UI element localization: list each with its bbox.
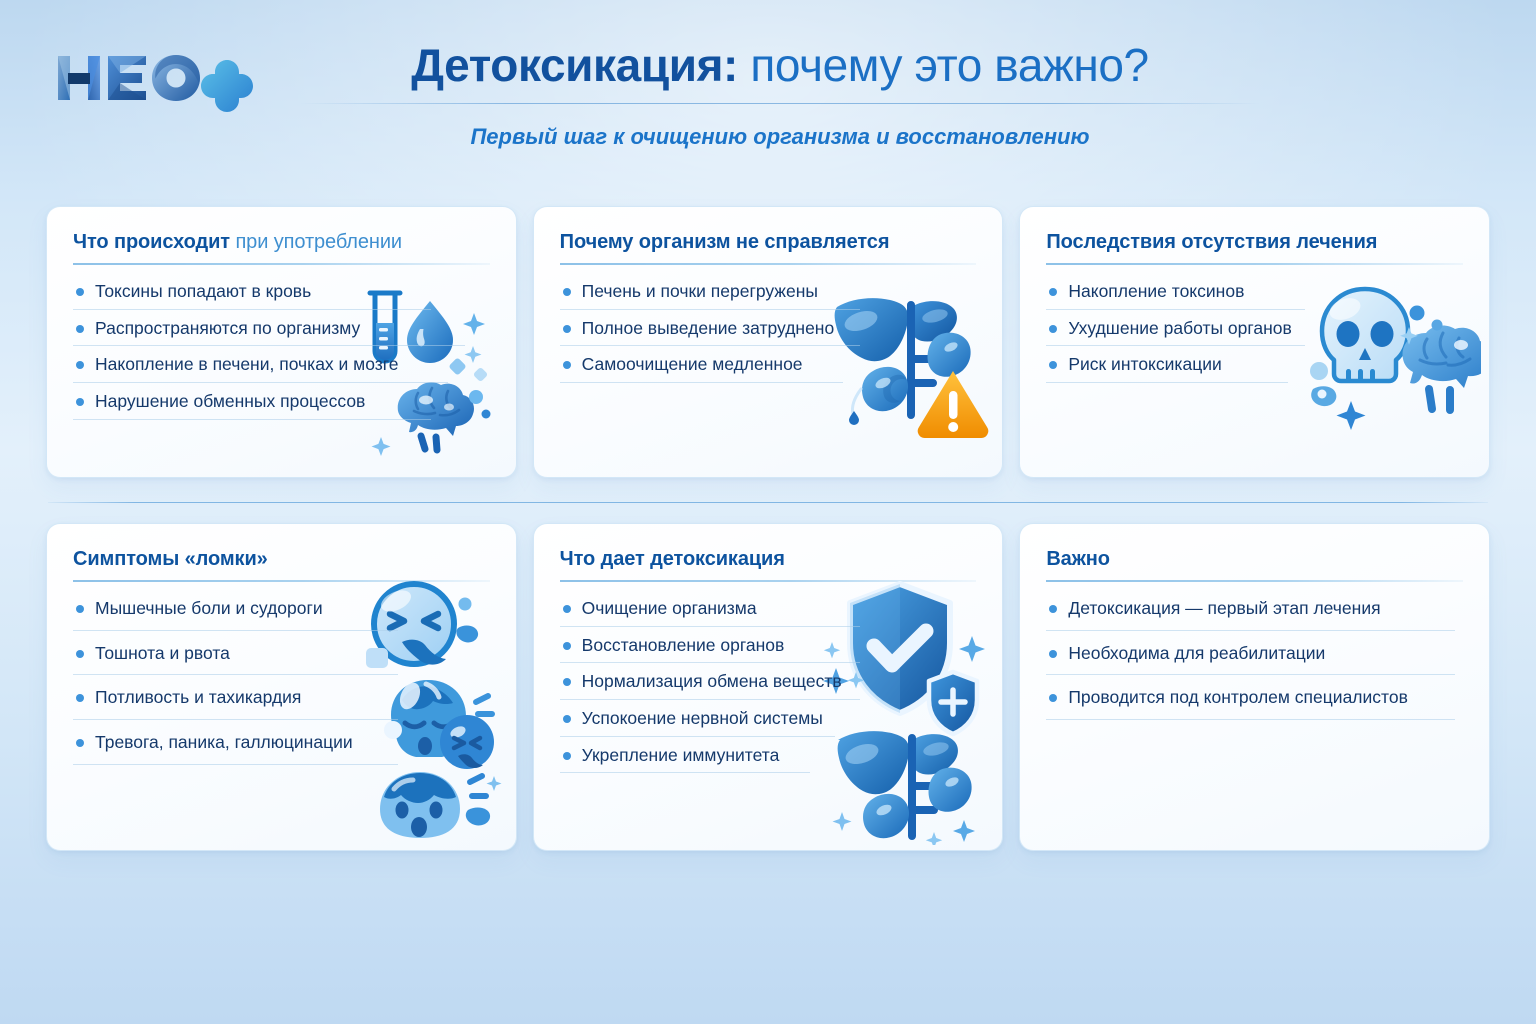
list-item: Мышечные боли и судороги [73, 598, 398, 631]
list-item: Накопление в печени, почках и мозге [73, 354, 448, 383]
card-important[interactable]: Важно Детоксикация — первый этап лечения… [1019, 523, 1490, 851]
card-row-top: Что происходит при употреблении [46, 206, 1490, 478]
bullet-list: Накопление токсинов Ухудшение работы орг… [1046, 281, 1463, 383]
card-detox-benefits[interactable]: Что дает детоксикация [533, 523, 1004, 851]
card-title-strong: Симптомы «ломки» [73, 548, 268, 570]
list-item: Восстановление органов [560, 635, 860, 664]
card-title-divider [1046, 580, 1463, 582]
list-item: Тошнота и рвота [73, 643, 398, 676]
card-title: Важно [1046, 548, 1463, 571]
list-item: Риск интоксикации [1046, 354, 1288, 383]
list-item: Полное выведение затруднено [560, 318, 860, 347]
card-title: Что происходит при употреблении [73, 231, 490, 254]
title-block: Детоксикация: почему это важно? Первый ш… [300, 42, 1260, 150]
page-title: Детоксикация: почему это важно? [300, 42, 1260, 89]
list-item: Распространяются по организму [73, 318, 465, 347]
card-title: Что дает детоксикация [560, 548, 977, 571]
list-item: Нормализация обмена веществ [560, 671, 860, 700]
card-title-divider [73, 580, 490, 582]
list-item: Ухудшение работы органов [1046, 318, 1304, 347]
card-title: Симптомы «ломки» [73, 548, 490, 571]
card-title-strong: Что дает детоксикация [560, 548, 785, 570]
card-title-divider [73, 263, 490, 265]
bullet-list: Печень и почки перегружены Полное выведе… [560, 281, 977, 383]
card-title-divider [1046, 263, 1463, 265]
list-item: Очищение организма [560, 598, 860, 627]
bullet-list: Очищение организма Восстановление органо… [560, 598, 977, 773]
list-item: Потливость и тахикардия [73, 687, 398, 720]
list-item: Накопление токсинов [1046, 281, 1304, 310]
card-title: Почему организм не справляется [560, 231, 977, 254]
list-item: Самоочищение медленное [560, 354, 843, 383]
card-title-light: при употреблении [230, 231, 402, 253]
card-title-divider [560, 263, 977, 265]
list-item: Детоксикация — первый этап лечения [1046, 598, 1454, 631]
title-divider [300, 103, 1260, 104]
list-item: Необходима для реабилитации [1046, 643, 1454, 676]
list-item: Проводится под контролем специалистов [1046, 687, 1454, 720]
list-item: Успокоение нервной системы [560, 708, 835, 737]
bullet-list: Мышечные боли и судороги Тошнота и рвота… [73, 598, 490, 765]
card-title-strong: Что происходит [73, 231, 230, 253]
cards-region: Что происходит при употреблении [46, 206, 1490, 851]
card-row-bottom: Симптомы «ломки» [46, 523, 1490, 851]
list-item: Тревога, паника, галлюцинации [73, 732, 398, 765]
list-item: Укрепление иммунитета [560, 745, 810, 774]
card-title: Последствия отсутствия лечения [1046, 231, 1463, 254]
page-header: Детоксикация: почему это важно? Первый ш… [0, 0, 1536, 190]
card-consequences[interactable]: Последствия отсутствия лечения [1019, 206, 1490, 478]
card-title-strong: Почему организм не справляется [560, 231, 890, 253]
card-withdrawal-symptoms[interactable]: Симптомы «ломки» [46, 523, 517, 851]
neo-plus-logo [48, 44, 256, 112]
bullet-list: Токсины попадают в кровь Распространяютс… [73, 281, 490, 420]
card-why-body-fails[interactable]: Почему организм не справляется [533, 206, 1004, 478]
bullet-list: Детоксикация — первый этап лечения Необх… [1046, 598, 1463, 720]
page-title-strong: Детоксикация: [411, 39, 738, 91]
row-divider [48, 502, 1488, 503]
list-item: Печень и почки перегружены [560, 281, 860, 310]
card-title-strong: Последствия отсутствия лечения [1046, 231, 1377, 253]
list-item: Нарушение обменных процессов [73, 391, 431, 420]
card-title-divider [560, 580, 977, 582]
card-title-strong: Важно [1046, 548, 1110, 570]
card-what-happens[interactable]: Что происходит при употреблении [46, 206, 517, 478]
list-item: Токсины попадают в кровь [73, 281, 431, 310]
page-subtitle: Первый шаг к очищению организма и восста… [300, 124, 1260, 150]
page-title-light: почему это важно? [738, 39, 1149, 91]
